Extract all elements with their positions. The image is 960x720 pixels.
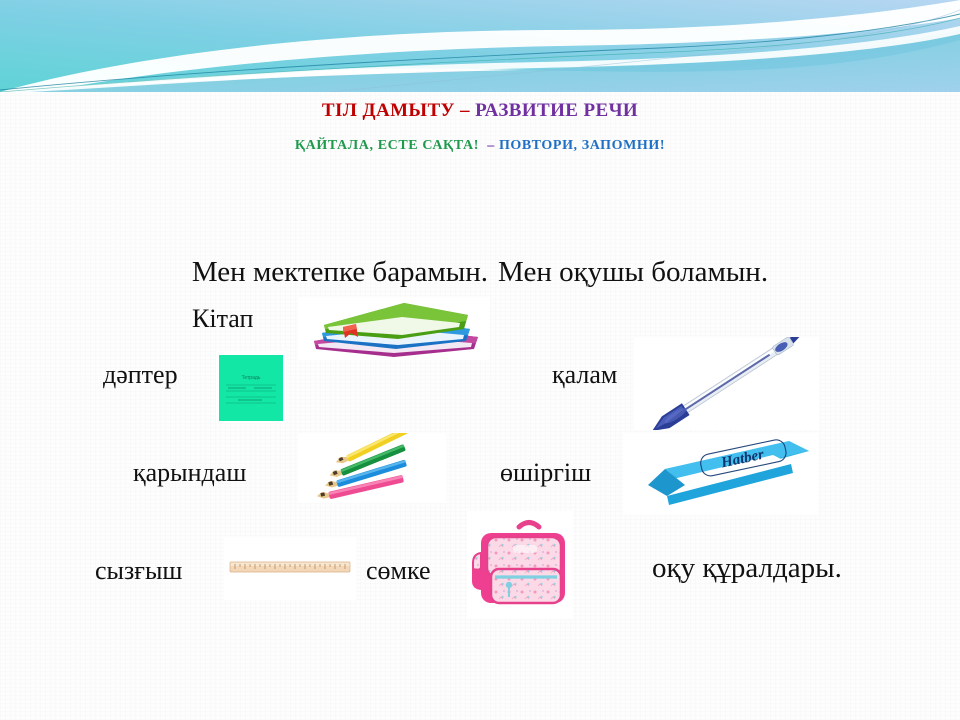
bag-image [467,511,573,619]
main-sentence: Мен мектепке барамын.Мен оқушы боламын. [0,256,960,289]
subtitle-russian: ПОВТОРИ, ЗАПОМНИ! [499,138,665,153]
svg-text:Тетрадь: Тетрадь [242,375,261,381]
subtitle-kazakh: ҚАЙТАЛА, ЕСТЕ САҚТА! [295,138,479,153]
title-russian: РАЗВИТИЕ РЕЧИ [475,100,638,121]
vocab-label-dapter: дәптер [103,360,178,390]
sentence-part-1: Мен мектепке барамын. [192,256,488,288]
slide-canvas: ТІЛ ДАМЫТУ – РАЗВИТИЕ РЕЧИ ҚАЙТАЛА, ЕСТЕ… [0,0,960,720]
books-image [298,297,490,360]
title-dash: – [460,100,470,121]
slide-title: ТІЛ ДАМЫТУ – РАЗВИТИЕ РЕЧИ [0,100,960,122]
vocab-label-oshirgish: өшіргіш [500,458,591,488]
vocab-label-qaryndash: қарындаш [133,458,246,488]
vocab-label-oqu: оқу құралдары. [652,552,842,585]
subtitle-dash: – [487,138,495,153]
sentence-part-2: Мен оқушы боламын. [498,256,768,288]
pencils-image [298,433,446,503]
ruler-image [224,537,356,600]
vocab-label-somke: сөмке [366,556,431,586]
title-kazakh: ТІЛ ДАМЫТУ [322,100,455,121]
notebook-image: Тетрадь [216,351,286,423]
slide-subtitle: ҚАЙТАЛА, ЕСТЕ САҚТА! – ПОВТОРИ, ЗАПОМНИ! [0,138,960,154]
vocab-label-kitap: Кітап [192,304,253,334]
vocab-label-syzgysh: сызғыш [95,556,182,586]
vocab-label-qalam: қалам [552,360,617,390]
eraser-image: Hatber [623,433,818,515]
pen-image [634,337,819,430]
